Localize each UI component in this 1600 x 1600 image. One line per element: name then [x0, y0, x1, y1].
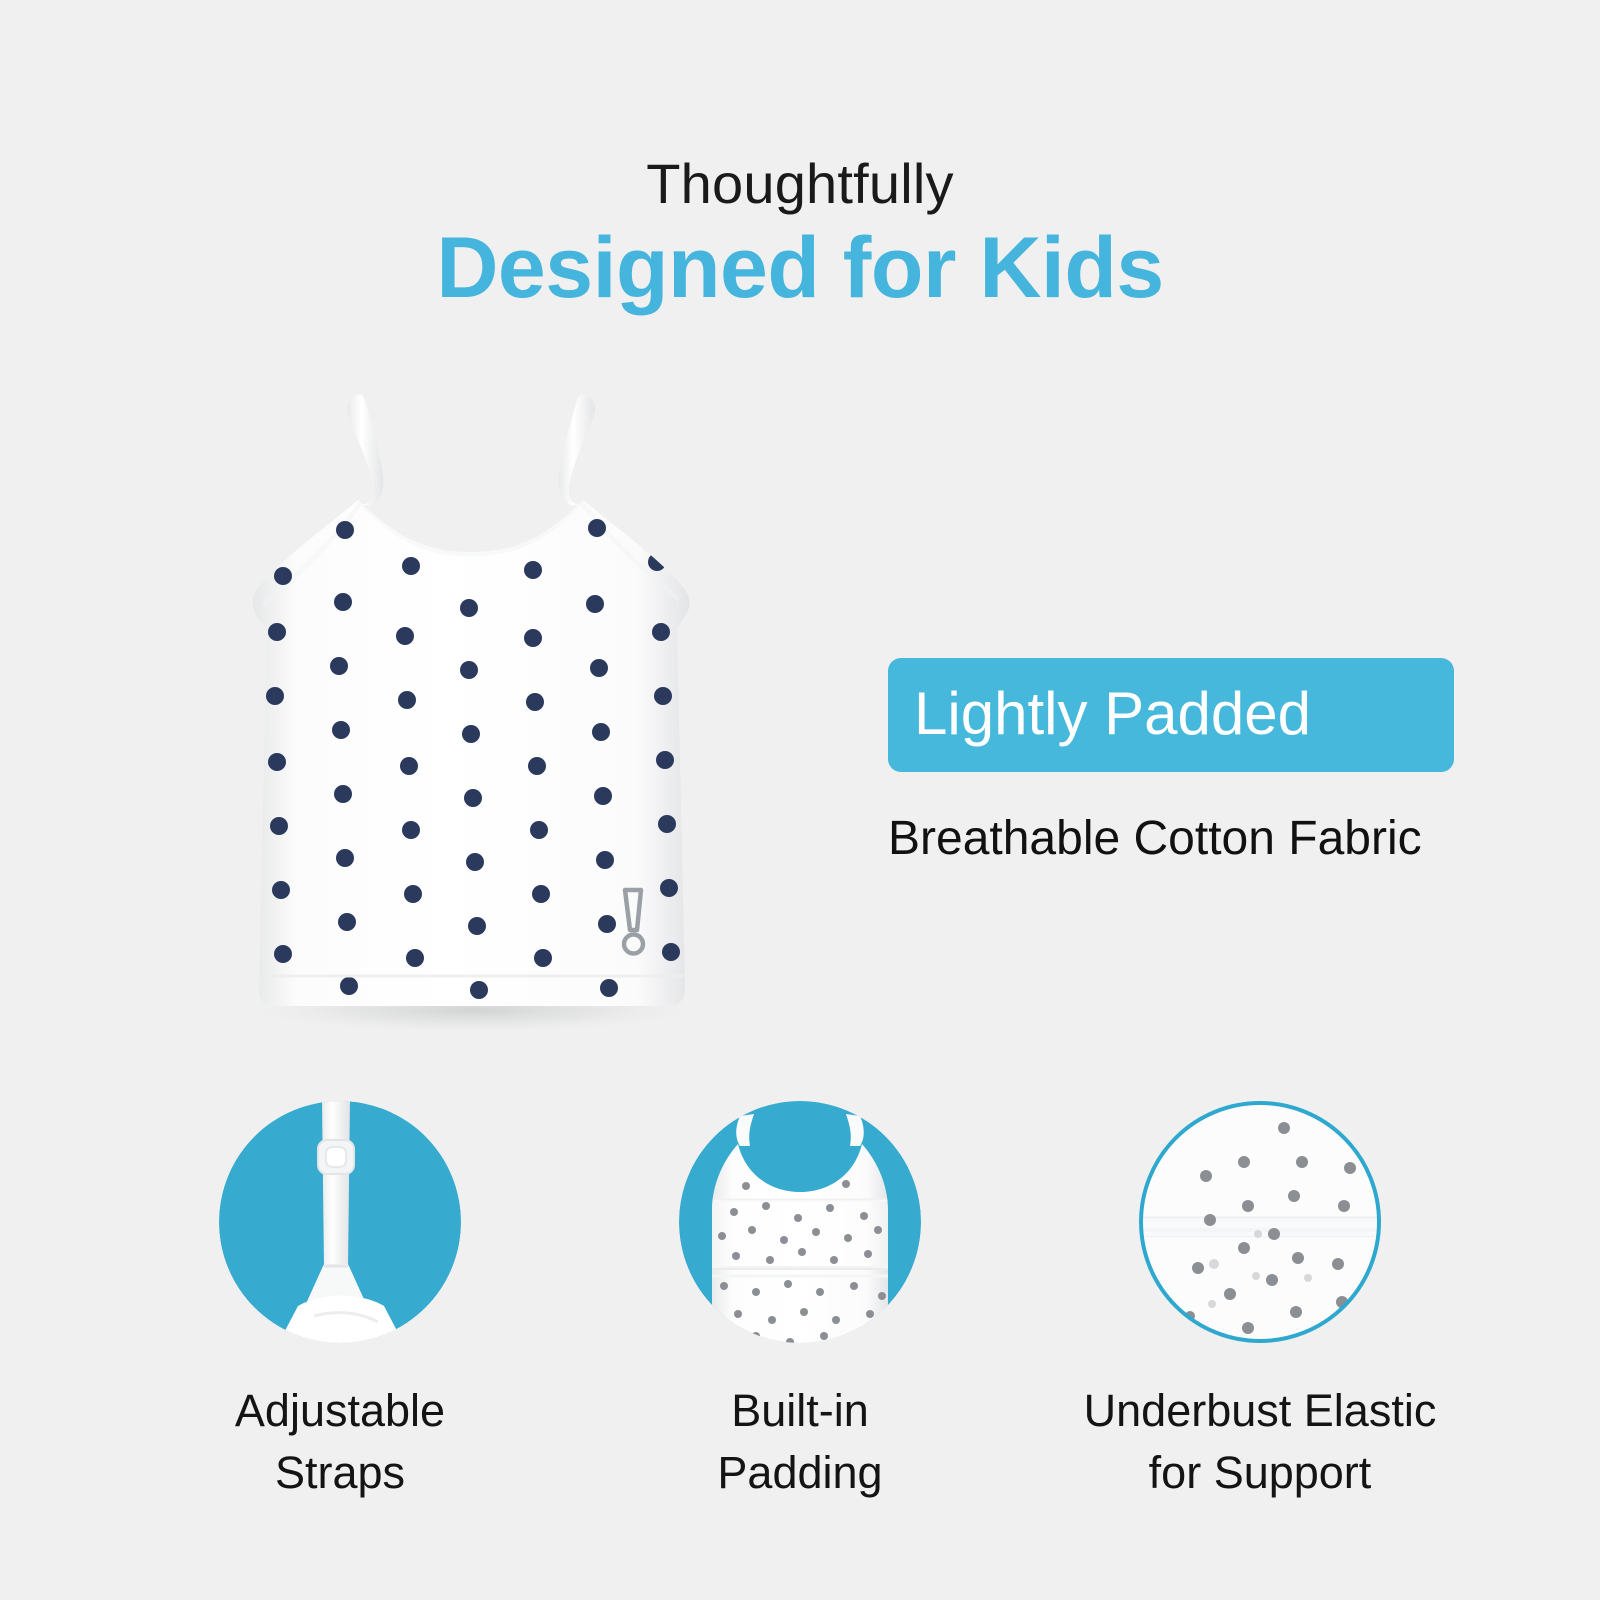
callout-subtitle: Breathable Cotton Fabric [888, 810, 1454, 868]
headline-kicker: Thoughtfully [0, 152, 1600, 216]
feature-underbust-elastic: Underbust Elastic for Support [1030, 1100, 1490, 1504]
feature-label-line1: Built-in [717, 1380, 882, 1442]
product-image-camisole [215, 370, 735, 1030]
headline-block: Thoughtfully Designed for Kids [0, 152, 1600, 318]
feature-label-line1: Underbust Elastic [1084, 1380, 1437, 1442]
callout-block: Lightly Padded Breathable Cotton Fabric [888, 658, 1454, 868]
feature-image-adjustable-straps [218, 1100, 462, 1344]
feature-adjustable-straps: Adjustable Straps [110, 1100, 570, 1504]
feature-label-adjustable-straps: Adjustable Straps [235, 1380, 445, 1504]
feature-image-underbust-elastic [1138, 1100, 1382, 1344]
feature-label-line2: Padding [717, 1442, 882, 1504]
feature-label-built-in-padding: Built-in Padding [717, 1380, 882, 1504]
feature-row: Adjustable Straps [0, 1100, 1600, 1504]
feature-label-line2: for Support [1084, 1442, 1437, 1504]
feature-label-underbust-elastic: Underbust Elastic for Support [1084, 1380, 1437, 1504]
camisole-straps [347, 394, 595, 505]
page-title: Designed for Kids [0, 218, 1600, 318]
feature-built-in-padding: Built-in Padding [570, 1100, 1030, 1504]
feature-image-built-in-padding [678, 1100, 922, 1344]
feature-label-line1: Adjustable [235, 1380, 445, 1442]
status-badge: Lightly Padded [888, 658, 1454, 772]
feature-label-line2: Straps [235, 1442, 445, 1504]
